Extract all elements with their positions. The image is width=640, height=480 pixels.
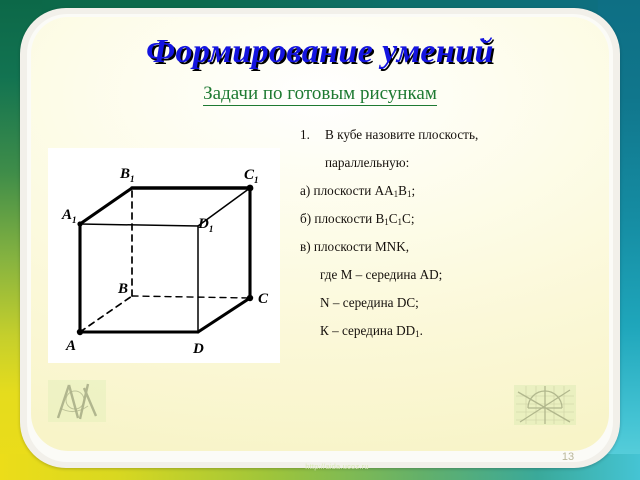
task-definition-k-suffix: . <box>420 323 423 338</box>
task-option-a-sub1: 1 <box>394 189 399 199</box>
vertex-label-d1: D1 <box>197 216 213 234</box>
task-option-b-tail: C; <box>402 211 414 226</box>
vertex-label-b1: B1 <box>119 166 135 184</box>
task-option-b-mid: C <box>389 211 398 226</box>
task-option-a-prefix: а) плоскости АA <box>300 183 394 198</box>
task-definition-n: N – середина DC; <box>300 296 590 324</box>
vertex-label-c: C <box>258 291 269 307</box>
task-item-stem: В кубе назовите плоскость, <box>325 127 478 142</box>
task-option-a: а) плоскости АA1B1; <box>300 184 590 212</box>
task-option-a-mid: B <box>398 183 407 198</box>
slide: Формирование умений Задачи по готовым ри… <box>0 0 640 480</box>
task-definition-n-text: N – середина DC; <box>320 295 419 310</box>
edge-a1-b1 <box>80 188 132 224</box>
drafting-tools-icon <box>44 378 110 426</box>
task-option-c: в) плоскости MNK, <box>300 240 590 268</box>
cube-edges <box>80 188 250 332</box>
vertex-label-d: D <box>192 341 204 357</box>
task-definition-k-prefix: К – середина DD <box>320 323 415 338</box>
cube-vertex-labels: A D C B A1 B1 C1 D1 <box>61 166 269 357</box>
protractor-compass-icon <box>512 382 578 428</box>
edge-d-c <box>198 298 250 332</box>
task-option-b-sub2: 1 <box>398 217 403 227</box>
task-definition-m-text: где М – середина AD; <box>320 267 442 282</box>
page-number: 13 <box>548 451 588 463</box>
vertex-label-a: A <box>65 338 76 354</box>
page-subtitle-text: Задачи по готовым рисункам <box>203 83 437 106</box>
cube-diagram: A D C B A1 B1 C1 D1 <box>48 148 280 363</box>
cube-diagram-svg: A D C B A1 B1 C1 D1 <box>48 148 280 363</box>
footer-url[interactable]: http://aida.ucoz.ru <box>262 462 412 471</box>
task-list: 1.В кубе назовите плоскость, параллельну… <box>300 128 590 352</box>
edge-b-c-hidden <box>132 296 250 298</box>
task-definition-k-sub: 1 <box>415 329 420 339</box>
vertex-label-a1: A1 <box>61 207 77 225</box>
task-option-a-suffix: ; <box>411 183 415 198</box>
vertex-dot-c1 <box>247 185 254 192</box>
vertex-dot-a <box>77 329 83 335</box>
task-definition-k: К – середина DD1. <box>300 324 590 352</box>
task-item-1: 1.В кубе назовите плоскость, <box>300 128 590 156</box>
vertex-label-c1: C1 <box>244 167 259 185</box>
task-option-b-prefix: б) плоскости B <box>300 211 384 226</box>
task-option-a-sub2: 1 <box>407 189 412 199</box>
page-title: Формирование умений <box>0 33 640 71</box>
vertex-dot-a1 <box>77 221 82 226</box>
vertex-label-b: B <box>117 281 128 297</box>
task-option-b-sub1: 1 <box>384 217 389 227</box>
task-item-number: 1. <box>300 128 325 141</box>
edge-a1-d1 <box>80 224 198 226</box>
task-option-b: б) плоскости B1C1C; <box>300 212 590 240</box>
page-subtitle: Задачи по готовым рисункам <box>0 83 640 105</box>
task-option-c-text: в) плоскости MNK, <box>300 239 409 254</box>
task-item-stem-cont: параллельную: <box>325 155 409 170</box>
vertex-dot-c <box>247 295 253 301</box>
task-definition-m: где М – середина AD; <box>300 268 590 296</box>
task-item-stem-cont-row: параллельную: <box>300 156 590 184</box>
edge-a-b-hidden <box>80 296 132 332</box>
